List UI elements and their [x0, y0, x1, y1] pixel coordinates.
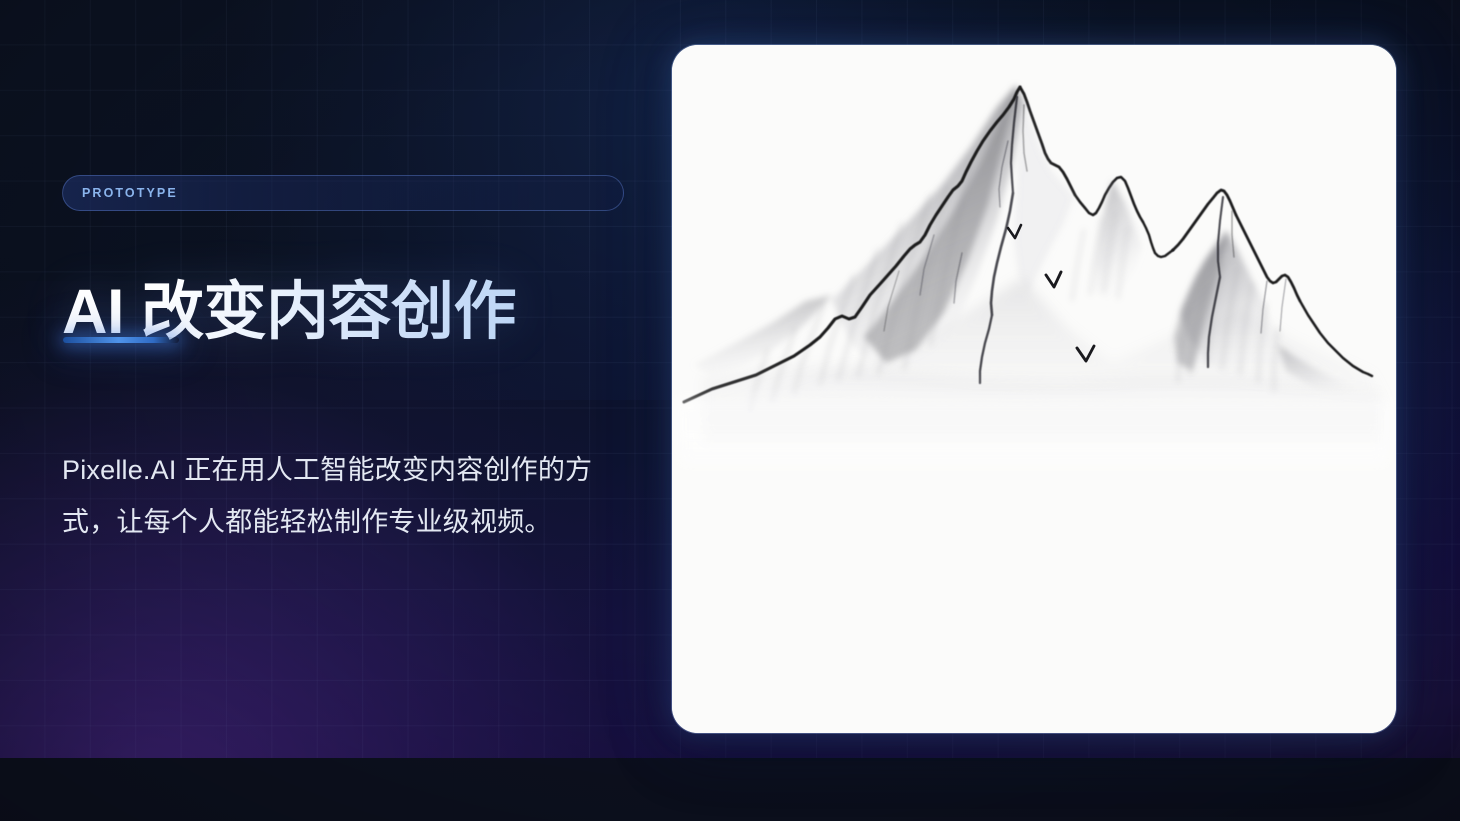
- body-paragraph: Pixelle.AI 正在用人工智能改变内容创作的方式，让每个人都能轻松制作专业…: [62, 445, 622, 549]
- title-accent-bar: [63, 337, 179, 343]
- presentation-slide: PROTOTYPE AI 改变内容创作 Pixelle.AI 正在用人工智能改变…: [0, 0, 1460, 821]
- mountain-sketch-illustration: [672, 45, 1396, 733]
- left-content-column: PROTOTYPE AI 改变内容创作 Pixelle.AI 正在用人工智能改变…: [62, 0, 642, 821]
- status-badge-label: PROTOTYPE: [82, 186, 178, 200]
- status-badge: PROTOTYPE: [62, 175, 624, 211]
- illustration-card: [672, 45, 1396, 733]
